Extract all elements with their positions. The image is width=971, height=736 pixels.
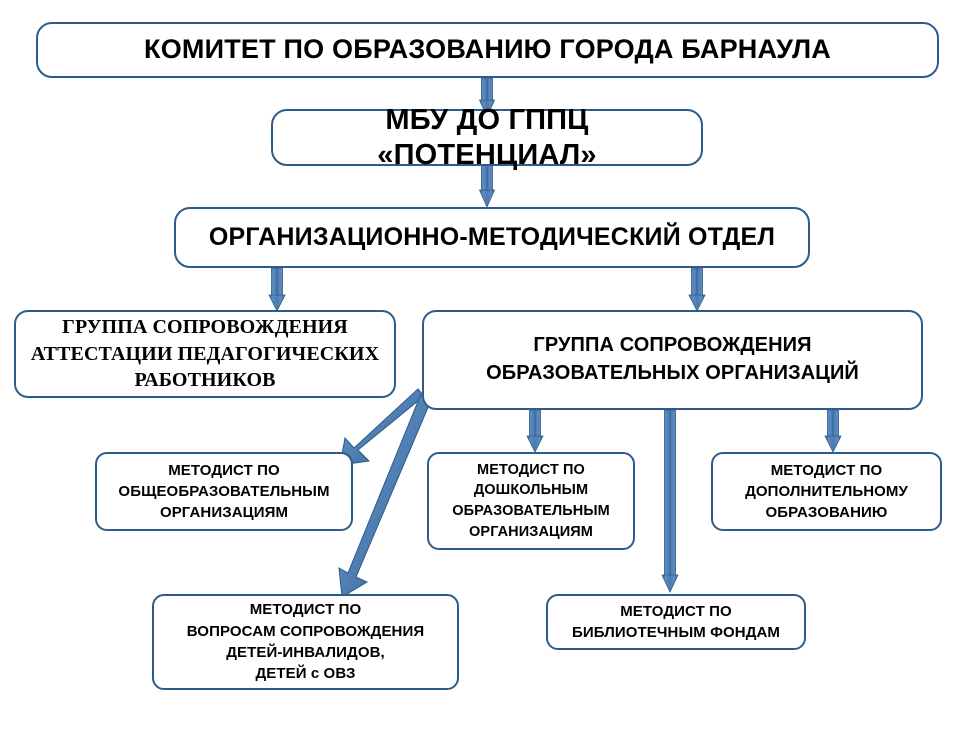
node-department-label: ОРГАНИЗАЦИОННО-МЕТОДИЧЕСКИЙ ОТДЕЛ: [182, 223, 802, 253]
connector-group-orgs-to-methodist-preschool: [527, 410, 543, 452]
node-group-orgs-label: ГРУППА СОПРОВОЖДЕНИЯ ОБРАЗОВАТЕЛЬНЫХ ОРГ…: [430, 332, 915, 387]
connector-department-to-group-attestation: [269, 268, 285, 311]
node-methodist-library[interactable]: МЕТОДИСТ ПО БИБЛИОТЕЧНЫМ ФОНДАМ: [546, 594, 806, 650]
node-group-attestation[interactable]: ГРУППА СОПРОВОЖДЕНИЯ АТТЕСТАЦИИ ПЕДАГОГИ…: [14, 310, 396, 398]
node-methodist-library-label: МЕТОДИСТ ПО БИБЛИОТЕЧНЫМ ФОНДАМ: [554, 601, 798, 644]
node-methodist-preschool[interactable]: МЕТОДИСТ ПО ДОШКОЛЬНЫМ ОБРАЗОВАТЕЛЬНЫМ О…: [427, 452, 635, 550]
node-group-attestation-label: ГРУППА СОПРОВОЖДЕНИЯ АТТЕСТАЦИИ ПЕДАГОГИ…: [22, 314, 388, 393]
node-methodist-disabled[interactable]: МЕТОДИСТ ПО ВОПРОСАМ СОПРОВОЖДЕНИЯ ДЕТЕЙ…: [152, 594, 459, 690]
node-methodist-disabled-label: МЕТОДИСТ ПО ВОПРОСАМ СОПРОВОЖДЕНИЯ ДЕТЕЙ…: [160, 599, 451, 684]
node-center-label: МБУ ДО ГППЦ «ПОТЕНЦИАЛ»: [279, 103, 695, 171]
node-group-orgs[interactable]: ГРУППА СОПРОВОЖДЕНИЯ ОБРАЗОВАТЕЛЬНЫХ ОРГ…: [422, 310, 923, 410]
node-department[interactable]: ОРГАНИЗАЦИОННО-МЕТОДИЧЕСКИЙ ОТДЕЛ: [174, 207, 810, 268]
node-center[interactable]: МБУ ДО ГППЦ «ПОТЕНЦИАЛ»: [271, 109, 703, 166]
connector-group-orgs-to-methodist-general: [340, 389, 424, 465]
node-committee-label: КОМИТЕТ ПО ОБРАЗОВАНИЮ ГОРОДА БАРНАУЛА: [44, 34, 931, 66]
node-methodist-general-label: МЕТОДИСТ ПО ОБЩЕОБРАЗОВАТЕЛЬНЫМ ОРГАНИЗА…: [103, 460, 345, 524]
connector-department-to-group-orgs: [689, 268, 705, 311]
node-methodist-supplementary[interactable]: МЕТОДИСТ ПО ДОПОЛНИТЕЛЬНОМУ ОБРАЗОВАНИЮ: [711, 452, 942, 531]
node-methodist-general[interactable]: МЕТОДИСТ ПО ОБЩЕОБРАЗОВАТЕЛЬНЫМ ОРГАНИЗА…: [95, 452, 353, 531]
node-committee[interactable]: КОМИТЕТ ПО ОБРАЗОВАНИЮ ГОРОДА БАРНАУЛА: [36, 22, 939, 78]
node-methodist-supplementary-label: МЕТОДИСТ ПО ДОПОЛНИТЕЛЬНОМУ ОБРАЗОВАНИЮ: [719, 460, 934, 524]
node-methodist-preschool-label: МЕТОДИСТ ПО ДОШКОЛЬНЫМ ОБРАЗОВАТЕЛЬНЫМ О…: [435, 460, 627, 542]
connector-group-orgs-to-methodist-library: [662, 410, 678, 592]
connector-group-orgs-to-methodist-supplementary: [825, 410, 841, 452]
org-chart-diagram: КОМИТЕТ ПО ОБРАЗОВАНИЮ ГОРОДА БАРНАУЛА М…: [0, 0, 971, 736]
